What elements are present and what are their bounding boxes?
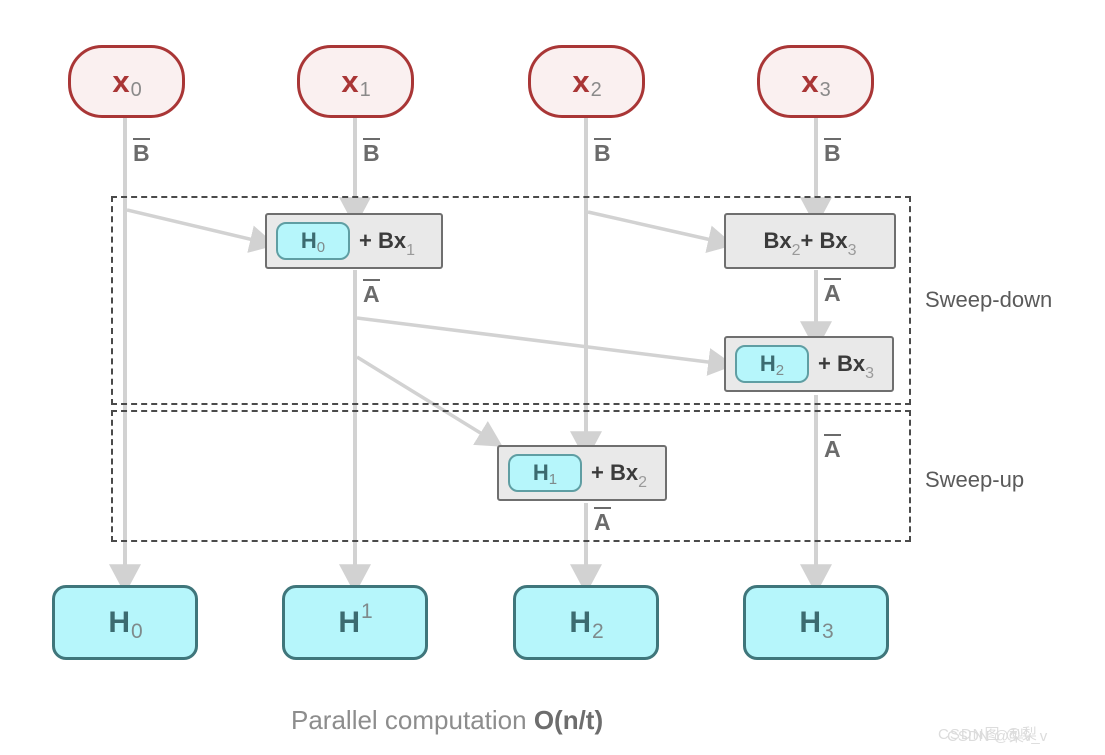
hidden-state-chip-h0-base: H xyxy=(301,228,317,254)
input-node-x2-base: x xyxy=(572,64,589,100)
edge-label-bbar-x2: B xyxy=(594,138,611,165)
hidden-state-chip-h2-subscript: 2 xyxy=(776,362,784,379)
input-node-x3-base: x xyxy=(801,64,818,100)
diagram-canvas: Sweep-down Sweep-up x0 x1 x2 x3 B B B B … xyxy=(0,0,1105,755)
compute-box-h2-plus-bx3[interactable]: H2 + Bx3 xyxy=(724,336,894,392)
output-node-h2-base: H xyxy=(569,606,591,640)
edge-label-abar-center-text: A xyxy=(594,509,611,535)
output-node-h3[interactable]: H3 xyxy=(743,585,889,660)
edge-label-abar-center: A xyxy=(594,507,611,534)
output-node-h1[interactable]: H1 xyxy=(282,585,428,660)
output-node-h1-base: H xyxy=(338,606,360,640)
input-node-x1-base: x xyxy=(341,64,358,100)
compute-box-h1-plus-bx2[interactable]: H1 + Bx2 xyxy=(497,445,667,501)
compute-box-bx2-plus-bx3-text: Bx2+ Bx3 xyxy=(763,228,856,254)
hidden-state-chip-h1-subscript: 1 xyxy=(549,471,557,488)
output-node-h2[interactable]: H2 xyxy=(513,585,659,660)
region-label-sweep-down: Sweep-down xyxy=(925,287,1052,313)
diagram-caption-complexity: O(n/t) xyxy=(534,705,603,735)
edge-label-bbar-x2-text: B xyxy=(594,140,611,166)
input-node-x1[interactable]: x1 xyxy=(297,45,414,118)
input-node-x0-base: x xyxy=(112,64,129,100)
edge-label-bbar-x1-text: B xyxy=(363,140,380,166)
compute-box-h0-plus-bx1-term: + Bx1 xyxy=(359,228,415,254)
compute-box-h1-plus-bx2-term: + Bx2 xyxy=(591,460,647,486)
input-node-x2[interactable]: x2 xyxy=(528,45,645,118)
output-node-h3-base: H xyxy=(799,606,821,640)
edge-label-abar-right-upper: A xyxy=(824,278,841,305)
hidden-state-chip-h1: H1 xyxy=(508,454,582,492)
hidden-state-chip-h1-base: H xyxy=(533,460,549,486)
diagram-caption-text: Parallel computation xyxy=(291,705,534,735)
edge-label-abar-right-lower-text: A xyxy=(824,436,841,462)
edge-label-abar-left-text: A xyxy=(363,281,380,307)
edge-label-bbar-x0-text: B xyxy=(133,140,150,166)
compute-box-h0-plus-bx1[interactable]: H0 + Bx1 xyxy=(265,213,443,269)
input-node-x0[interactable]: x0 xyxy=(68,45,185,118)
edge-label-bbar-x1: B xyxy=(363,138,380,165)
edge-label-abar-left: A xyxy=(363,279,380,306)
output-node-h0-subscript: 0 xyxy=(131,620,143,644)
region-label-sweep-up: Sweep-up xyxy=(925,467,1024,493)
hidden-state-chip-h0-subscript: 0 xyxy=(317,239,325,256)
input-node-x3[interactable]: x3 xyxy=(757,45,874,118)
output-node-h1-superscript: 1 xyxy=(361,600,373,624)
hidden-state-chip-h2-base: H xyxy=(760,351,776,377)
input-node-x1-subscript: 1 xyxy=(360,79,371,102)
edge-label-bbar-x3-text: B xyxy=(824,140,841,166)
diagram-caption: Parallel computation O(n/t) xyxy=(291,705,603,736)
compute-box-h2-plus-bx3-term: + Bx3 xyxy=(818,351,874,377)
input-node-x0-subscript: 0 xyxy=(131,79,142,102)
output-node-h0-base: H xyxy=(108,606,130,640)
compute-box-bx2-plus-bx3[interactable]: Bx2+ Bx3 xyxy=(724,213,896,269)
input-node-x3-subscript: 3 xyxy=(820,79,831,102)
watermark-secondary: CSDN图 @梨 xyxy=(938,723,1038,744)
edge-label-bbar-x3: B xyxy=(824,138,841,165)
input-node-x2-subscript: 2 xyxy=(591,79,602,102)
output-node-h2-subscript: 2 xyxy=(592,620,604,644)
hidden-state-chip-h2: H2 xyxy=(735,345,809,383)
edge-label-bbar-x0: B xyxy=(133,138,150,165)
output-node-h3-subscript: 3 xyxy=(822,620,834,644)
output-node-h0[interactable]: H0 xyxy=(52,585,198,660)
hidden-state-chip-h0: H0 xyxy=(276,222,350,260)
edge-label-abar-right-lower: A xyxy=(824,434,841,461)
edge-label-abar-right-upper-text: A xyxy=(824,280,841,306)
